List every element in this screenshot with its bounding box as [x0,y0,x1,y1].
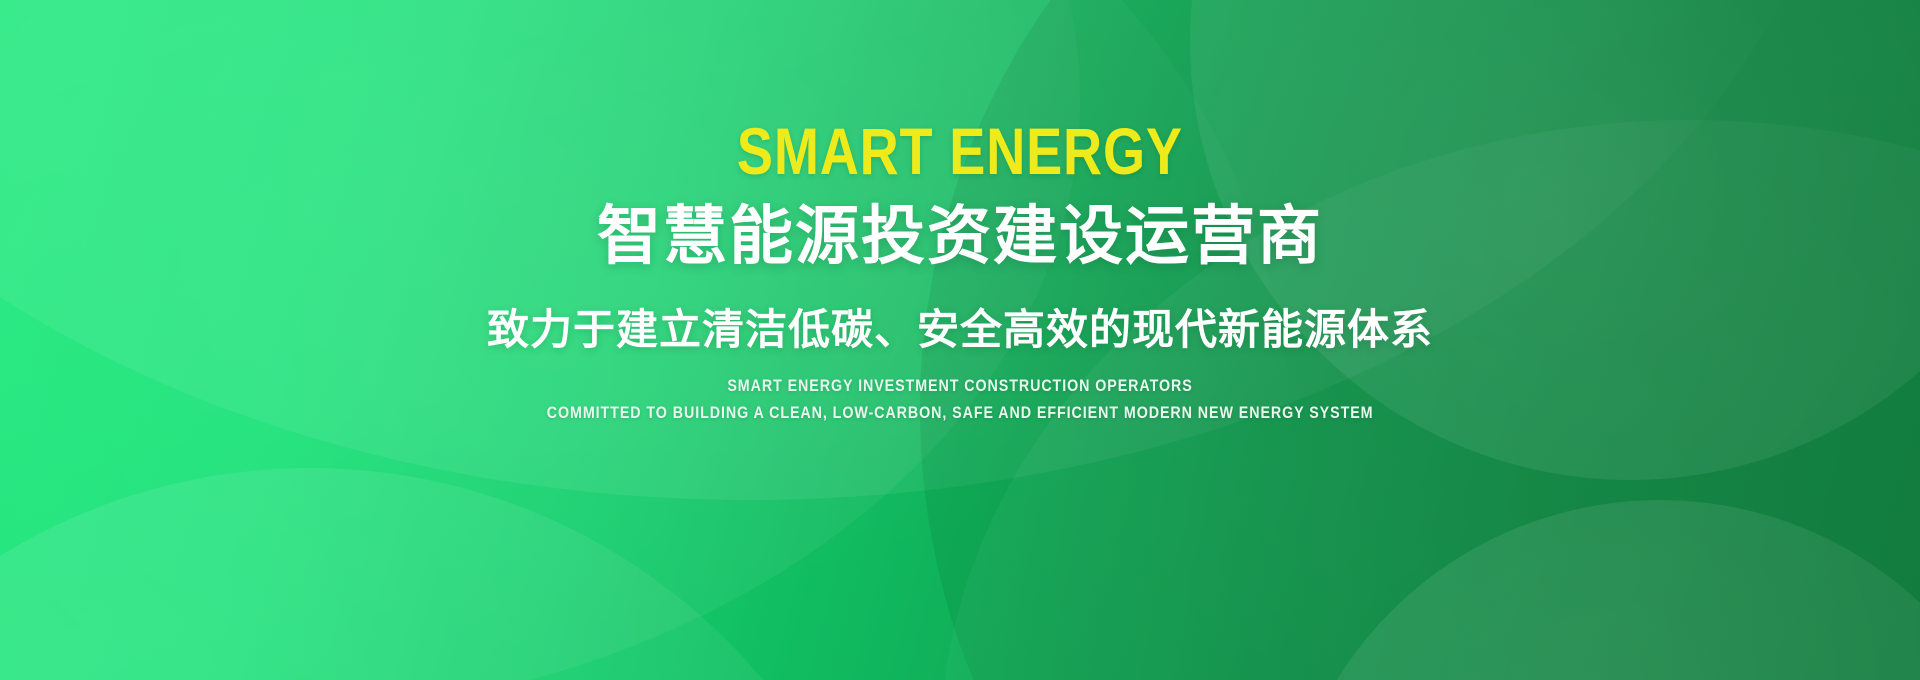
caption-line-2: COMMITTED TO BUILDING A CLEAN, LOW-CARBO… [547,402,1374,423]
hero-banner: SMART ENERGY 智慧能源投资建设运营商 致力于建立清洁低碳、安全高效的… [0,0,1920,680]
subheadline-chinese: 致力于建立清洁低碳、安全高效的现代新能源体系 [487,307,1433,353]
caption-block: SMART ENERGY INVESTMENT CONSTRUCTION OPE… [468,375,1452,423]
caption-line-1: SMART ENERGY INVESTMENT CONSTRUCTION OPE… [727,375,1192,396]
banner-content: SMART ENERGY 智慧能源投资建设运营商 致力于建立清洁低碳、安全高效的… [0,0,1920,680]
headline-english: SMART ENERGY [737,118,1183,184]
headline-chinese: 智慧能源投资建设运营商 [597,202,1323,271]
